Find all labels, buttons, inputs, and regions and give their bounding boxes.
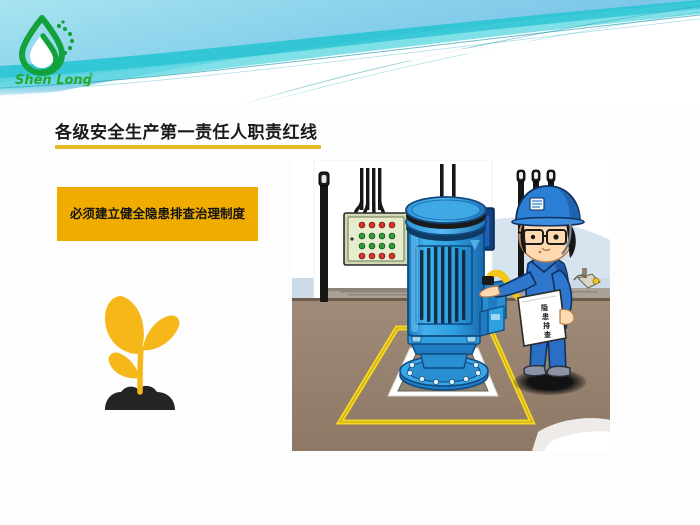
clipboard-char-3: 排: [543, 321, 550, 330]
yellow-statement-text: 必须建立健全隐患排查治理制度: [70, 206, 245, 223]
slide-canvas: Shen Long ® 各级安全生产第一责任人职责红线 必须建立健全隐患排查治理…: [0, 0, 700, 525]
yellow-statement-box: 必须建立健全隐患排查治理制度: [57, 187, 258, 241]
logo-wordmark: Shen Long: [15, 73, 92, 86]
blue-equipment-crate: [480, 306, 504, 336]
clipboard-char-1: 隐: [541, 303, 548, 312]
shen-long-logo: Shen Long ®: [12, 14, 108, 86]
sprout-growth-icon: [85, 282, 195, 417]
safety-inspection-illustration: 隐 患 排 查: [292, 160, 610, 451]
clipboard-char-4: 查: [544, 330, 552, 339]
svg-text:®: ®: [88, 72, 94, 79]
clipboard-char-2: 患: [542, 312, 549, 321]
page-title: 各级安全生产第一责任人职责红线: [55, 118, 318, 143]
title-underline: [55, 145, 321, 149]
